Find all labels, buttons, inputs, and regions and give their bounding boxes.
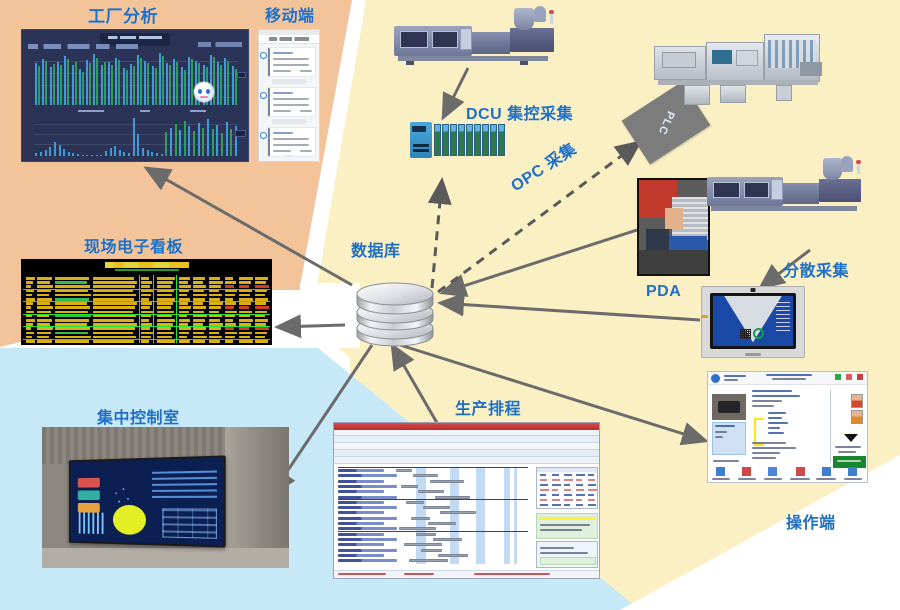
mobile-avatar-icon [260,52,267,59]
led-cell [93,302,137,305]
led-cell [55,327,90,330]
notes-panel[interactable] [536,541,598,568]
bar [147,150,149,156]
terminal-header [708,372,867,385]
hopper-icon [514,8,534,30]
led-cell [225,306,234,309]
bar-pair [180,53,187,105]
led-cell [179,294,187,297]
led-cell [209,277,220,280]
led-cell [255,332,267,335]
led-cell [179,323,188,326]
led-cell [93,281,137,284]
led-cell [225,323,236,326]
toolbar-icon[interactable] [848,467,857,476]
led-cell [239,332,252,335]
pie-chart [113,505,146,535]
dcu-io-module [442,124,449,156]
terminal-text-line [768,417,782,419]
gantt-bar[interactable] [413,474,438,477]
led-cell [157,340,175,343]
led-cell [141,336,151,339]
led-cell [93,306,135,309]
bar-plan [137,55,139,105]
led-cell [239,302,251,305]
bar [54,142,56,156]
bar [188,126,190,156]
mobile-text-line [273,144,309,146]
bar-plan [159,53,161,105]
detail-grid-cell [564,504,570,506]
led-cell [37,294,49,297]
led-cell [179,298,190,301]
led-cell [55,311,88,314]
mobile-avatar-icon [260,132,267,139]
led-cell [255,327,269,330]
led-cell [26,277,35,280]
time-column-band [514,467,517,564]
control-room-photo[interactable] [42,427,289,568]
led-cell [225,340,233,343]
gantt-task-label[interactable] [338,549,397,552]
detail-grid-cell [588,504,596,506]
gantt-task-label[interactable] [338,511,384,514]
bar-actual [147,63,149,105]
detail-grid-cell [576,489,584,491]
led-cell [55,315,91,318]
bar-plan [57,62,59,105]
detail-grid-cell [552,479,560,481]
bar [35,153,37,156]
mobile-text-line [273,132,293,134]
detail-grid-cell [540,489,549,491]
detail-grid-cell [564,494,572,496]
detail-grid-cell [576,484,583,486]
mobile-timestamp [300,110,312,112]
gantt-bar[interactable] [440,511,476,514]
distributed-collection-tablet[interactable] [701,286,805,358]
gantt-bar[interactable] [421,549,442,552]
led-cell [141,332,153,335]
detail-grid-cell [552,474,559,476]
mobile-text-line [273,138,309,140]
bar [198,123,200,156]
bar-actual [96,58,98,105]
pda-worker-photo [637,178,710,276]
status-icon-red[interactable] [846,374,852,380]
toolbar-row-2[interactable] [334,443,599,450]
bar [216,125,218,156]
gantt-bar[interactable] [411,517,430,520]
bar [40,152,42,156]
led-cell [93,319,134,322]
bar-plan [181,67,183,105]
led-cell [239,319,253,322]
gantt-bar[interactable] [409,559,448,562]
bar [142,148,144,156]
mobile-text-line [273,64,309,66]
led-cell [37,281,50,284]
dcu-io-module [498,124,505,156]
detail-grid-cell [564,499,573,501]
gantt-bar[interactable] [404,543,442,546]
mobile-text-line [273,70,291,72]
caption-factory-analysis: 工厂分析 [88,2,158,27]
led-cell [26,340,35,343]
led-cell [26,336,32,339]
gantt-task-label[interactable] [338,485,397,488]
database-cylinder-icon[interactable] [352,272,438,350]
bar [72,153,74,156]
gantt-task-label[interactable] [338,559,397,562]
led-cell [55,323,87,326]
caption-production-scheduling: 生产排程 [455,395,521,419]
dcu-io-module [490,124,497,156]
bar [156,153,158,156]
gantt-task-label[interactable] [338,480,384,483]
mobile-text-line [273,52,293,54]
toolbar-icon[interactable] [796,467,805,476]
led-cell [157,319,175,322]
info-pane-blue [712,422,746,455]
dashboard-toolbar-right[interactable] [198,42,242,47]
mobile-message-card[interactable] [268,88,315,116]
led-cell [193,319,205,322]
production-line-machine [650,28,830,106]
led-cell [37,332,51,335]
led-cell [239,285,249,288]
led-cell [157,277,175,280]
gantt-bar[interactable] [438,554,468,557]
bar-plan [64,56,66,105]
status-rows [152,470,217,502]
bar-actual [162,56,164,105]
led-cell [209,315,222,318]
bar-plan [72,65,74,105]
terminal-toolbar-icons[interactable] [708,466,867,482]
terminal-text-line [768,432,784,434]
led-cell [93,277,134,280]
bar-pair [129,53,136,105]
bar-actual [133,66,135,105]
detail-grid-cell [552,489,558,491]
led-cell [193,302,203,305]
panel-divider [830,390,831,462]
info-panel-green [536,513,598,539]
led-cell [225,311,237,314]
detail-grid-panel[interactable] [536,467,598,509]
bar-plan [173,59,175,105]
gantt-bar[interactable] [428,522,456,525]
led-cell [255,294,265,297]
bar-plan [166,63,168,105]
toolbar-row-3[interactable] [334,450,599,457]
led-cell [193,315,207,318]
led-cell [255,277,268,280]
operator-avatar [851,394,863,408]
toolbar-icon[interactable] [716,467,725,476]
led-cell [157,281,173,284]
led-cell [26,298,35,301]
led-cell [255,311,267,314]
gantt-group-separator [338,499,528,500]
gantt-bar[interactable] [416,533,436,536]
toolbar-icon[interactable] [742,467,751,476]
gantt-bar[interactable] [396,469,412,472]
bar-plan [152,66,154,105]
bar-plan [50,67,52,105]
bar-pair [216,53,223,105]
dcu-controller-device[interactable] [410,118,506,160]
close-icon[interactable] [857,374,863,380]
led-cell [37,285,53,288]
detail-grid-cell [588,474,594,476]
bar [105,151,107,156]
led-cell [157,323,173,326]
terminal-text-line [752,390,792,392]
gantt-task-label[interactable] [338,474,397,477]
bar-pair [165,53,172,105]
bar-item [234,118,239,156]
bar-plan [115,58,117,105]
dcu-io-module [458,124,465,156]
bar-plan [101,65,103,105]
kpi-tile-teal [78,490,101,500]
filter-bar[interactable] [334,457,599,464]
gantt-task-label[interactable] [338,554,384,557]
bar-plan [232,66,234,105]
bar-pair [34,53,41,105]
led-cell [255,340,268,343]
tablet-button[interactable] [745,353,761,356]
gantt-task-label[interactable] [338,501,384,504]
factory-analysis-dashboard[interactable] [21,29,249,162]
led-cell [141,302,152,305]
dashboard-legend-top [237,72,246,78]
mobile-message-card[interactable] [268,48,315,76]
led-cell [193,311,204,314]
tablet-screen [710,293,796,349]
led-cell [55,306,90,309]
led-cell [141,294,151,297]
led-cell [26,281,33,284]
bar-pair [78,53,85,105]
tablet-side-readout [776,302,790,332]
bar-actual [227,61,229,105]
detail-grid-cell [588,484,596,486]
tablet-logo [740,328,766,340]
dashboard-bottom-chart [34,118,238,156]
led-cell [93,327,135,330]
led-cell [255,302,266,305]
electronic-board-display[interactable] [21,259,272,345]
bar-actual [75,62,77,105]
bar-actual [176,62,178,105]
bar-chart [79,513,105,534]
detail-grid-cell [576,474,585,476]
led-cell [37,290,51,293]
bar [110,148,112,156]
gantt-bar[interactable] [423,506,450,509]
gantt-bar[interactable] [401,485,418,488]
bar-plan [35,63,37,105]
bar-pair [121,53,128,105]
caption-pda: PDA [646,283,681,301]
led-cell [193,340,205,343]
led-cell [179,319,190,322]
bar-actual [53,64,55,105]
gantt-task-label[interactable] [338,506,397,509]
dcu-io-module [466,124,473,156]
led-cell [193,277,205,280]
bar [100,155,102,156]
led-cell [255,281,266,284]
bar-actual [82,72,84,106]
dashboard-axis-label [140,110,150,112]
bar-pair [41,53,48,105]
bar-plan [42,59,44,105]
led-cell [93,336,136,339]
bar-actual [126,70,128,105]
led-cell [209,290,219,293]
gantt-task-label[interactable] [338,543,384,546]
status-icon-green[interactable] [835,374,841,380]
led-cell [157,315,172,318]
bar [151,152,153,156]
gantt-task-label[interactable] [338,490,384,493]
bar [226,122,228,156]
bar-pair [100,53,107,105]
bar [165,132,167,156]
bar-pair [63,53,70,105]
led-cell [157,311,174,314]
gantt-bar[interactable] [418,490,444,493]
led-cell [255,336,265,339]
injection-molding-machine-2 [705,155,865,215]
led-cell [157,294,172,297]
toolbar-icon[interactable] [822,467,831,476]
bar [133,118,135,156]
led-cell [225,302,236,305]
led-cell [209,332,219,335]
led-cell [55,340,89,343]
bar-pair [223,53,230,105]
bar [68,152,70,156]
led-cell [141,323,152,326]
led-cell [179,281,188,284]
detail-grid-cell [576,504,583,506]
mobile-app-screenshot[interactable] [258,29,320,162]
led-cell [93,285,135,288]
toolbar-row-1[interactable] [334,436,599,443]
led-cell [37,302,50,305]
bar [91,155,93,156]
led-cell [141,281,152,284]
diagram-canvas: PLC [0,0,900,610]
bar-actual [67,59,69,105]
gantt-task-label[interactable] [338,517,397,520]
plc-label: PLC [655,109,676,137]
wall-right [225,427,289,568]
led-cell [26,294,32,297]
led-cell [255,319,268,322]
bar-pair [172,53,179,105]
mobile-date-separator [272,119,306,124]
led-cell [225,290,237,293]
app-logo-icon [711,374,720,383]
detail-grid-cell [540,474,546,476]
time-column-band [476,467,485,564]
dashboard-mascot-icon [194,82,214,102]
led-cell [37,306,53,309]
led-cell [93,332,133,335]
led-board-title [105,262,189,268]
toolbar-icon[interactable] [768,467,777,476]
gantt-task-label[interactable] [338,469,384,472]
led-cell [37,315,49,318]
led-cell [179,315,187,318]
mobile-message-card[interactable] [268,128,315,156]
gantt-bar[interactable] [433,538,462,541]
led-cell [37,323,50,326]
bar-pair [158,53,165,105]
dashboard-axis-label [190,110,206,112]
hopper-icon [823,158,842,180]
production-scheduling-window[interactable] [333,422,600,579]
gantt-task-label[interactable] [338,533,384,536]
bar-pair [107,53,114,105]
gantt-bar[interactable] [430,480,464,483]
mobile-text-line [273,58,309,60]
led-cell [179,306,191,309]
led-cell [193,298,205,301]
caption-distributed-collection: 分散采集 [783,257,849,281]
bar-plan [93,54,95,105]
gantt-bar[interactable] [406,501,424,504]
terminal-text-line [752,452,780,454]
led-cell [193,290,204,293]
led-cell [255,285,269,288]
led-cell [157,306,171,309]
led-cell [179,290,189,293]
dashboard-toolbar[interactable] [28,44,138,49]
led-cell [225,336,235,339]
gantt-task-label[interactable] [338,538,397,541]
gantt-task-label[interactable] [338,522,384,525]
mobile-text-line [273,104,309,106]
led-cell [239,281,251,284]
detail-grid-cell [552,484,561,486]
led-cell [157,327,171,330]
bar [230,129,232,156]
part-photo [712,394,746,420]
bar-plan [224,58,226,105]
detail-grid-cell [564,489,571,491]
led-cell [55,294,91,297]
led-cell [179,277,190,280]
led-cell [225,327,234,330]
bar-pair [114,53,121,105]
antenna-icon [701,315,708,318]
operator-terminal-screenshot[interactable] [707,371,868,483]
led-cell [255,306,269,309]
led-cell [37,336,49,339]
video-wall-screen [69,455,226,547]
led-cell [255,315,265,318]
led-cell [26,332,34,335]
led-cell [179,336,187,339]
led-cell [239,327,249,330]
